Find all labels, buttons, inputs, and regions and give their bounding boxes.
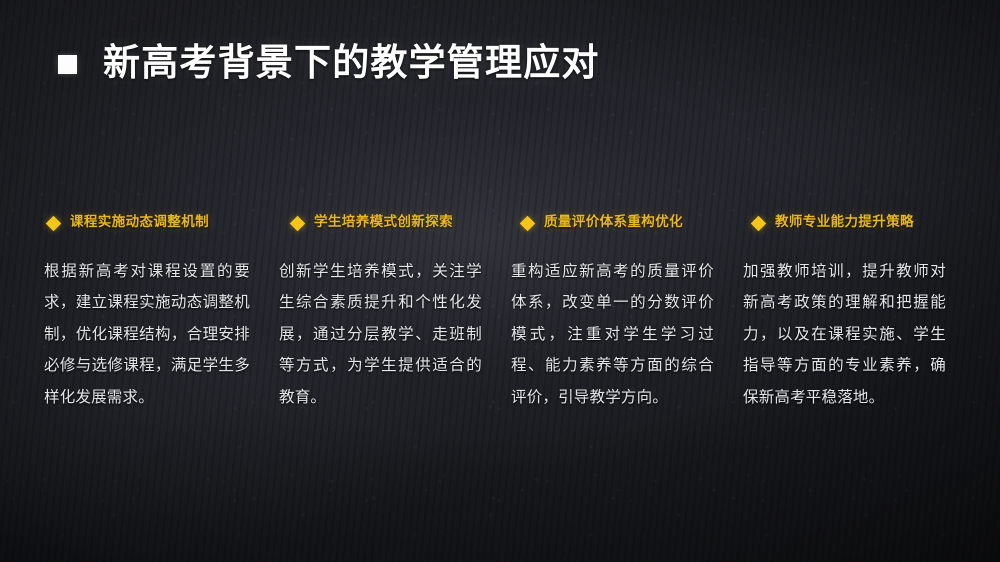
slide-title-row: 新高考背景下的教学管理应对 bbox=[58, 42, 600, 83]
content-column-1: 课程实施动态调整机制 根据新高考对课程设置的要求，建立课程实施动态调整机制，优化… bbox=[44, 214, 276, 413]
column-3-header: 质量评价体系重构优化 bbox=[508, 214, 714, 231]
diamond-bullet-icon bbox=[290, 216, 306, 232]
diamond-bullet-icon bbox=[46, 216, 62, 232]
diamond-bullet-icon bbox=[751, 216, 767, 232]
page-title: 新高考背景下的教学管理应对 bbox=[103, 42, 600, 83]
presentation-slide: 新高考背景下的教学管理应对 课程实施动态调整机制 根据新高考对课程设置的要求，建… bbox=[0, 0, 1000, 562]
column-2-body: 创新学生培养模式，关注学生综合素质提升和个性化发展，通过分层教学、走班制等方式，… bbox=[279, 256, 482, 414]
column-4-body: 加强教师培训，提升教师对新高考政策的理解和把握能力，以及在课程实施、学生指导等方… bbox=[743, 256, 946, 414]
column-2-header: 学生培养模式创新探索 bbox=[276, 214, 482, 231]
column-1-heading: 课程实施动态调整机制 bbox=[70, 214, 209, 231]
column-4-header: 教师专业能力提升策略 bbox=[740, 214, 946, 231]
column-4-heading: 教师专业能力提升策略 bbox=[775, 214, 914, 231]
content-columns: 课程实施动态调整机制 根据新高考对课程设置的要求，建立课程实施动态调整机制，优化… bbox=[44, 214, 974, 413]
column-3-body: 重构适应新高考的质量评价体系，改变单一的分数评价模式，注重对学生学习过程、能力素… bbox=[511, 256, 714, 414]
content-column-2: 学生培养模式创新探索 创新学生培养模式，关注学生综合素质提升和个性化发展，通过分… bbox=[276, 214, 508, 413]
column-2-heading: 学生培养模式创新探索 bbox=[314, 214, 453, 231]
column-3-heading: 质量评价体系重构优化 bbox=[544, 214, 683, 231]
filled-square-bullet-icon bbox=[58, 55, 77, 74]
diamond-bullet-icon bbox=[520, 216, 536, 232]
content-column-4: 教师专业能力提升策略 加强教师培训，提升教师对新高考政策的理解和把握能力，以及在… bbox=[740, 214, 972, 413]
column-1-body: 根据新高考对课程设置的要求，建立课程实施动态调整机制，优化课程结构，合理安排必修… bbox=[44, 256, 250, 414]
content-column-3: 质量评价体系重构优化 重构适应新高考的质量评价体系，改变单一的分数评价模式，注重… bbox=[508, 214, 740, 413]
column-1-header: 课程实施动态调整机制 bbox=[44, 214, 250, 231]
